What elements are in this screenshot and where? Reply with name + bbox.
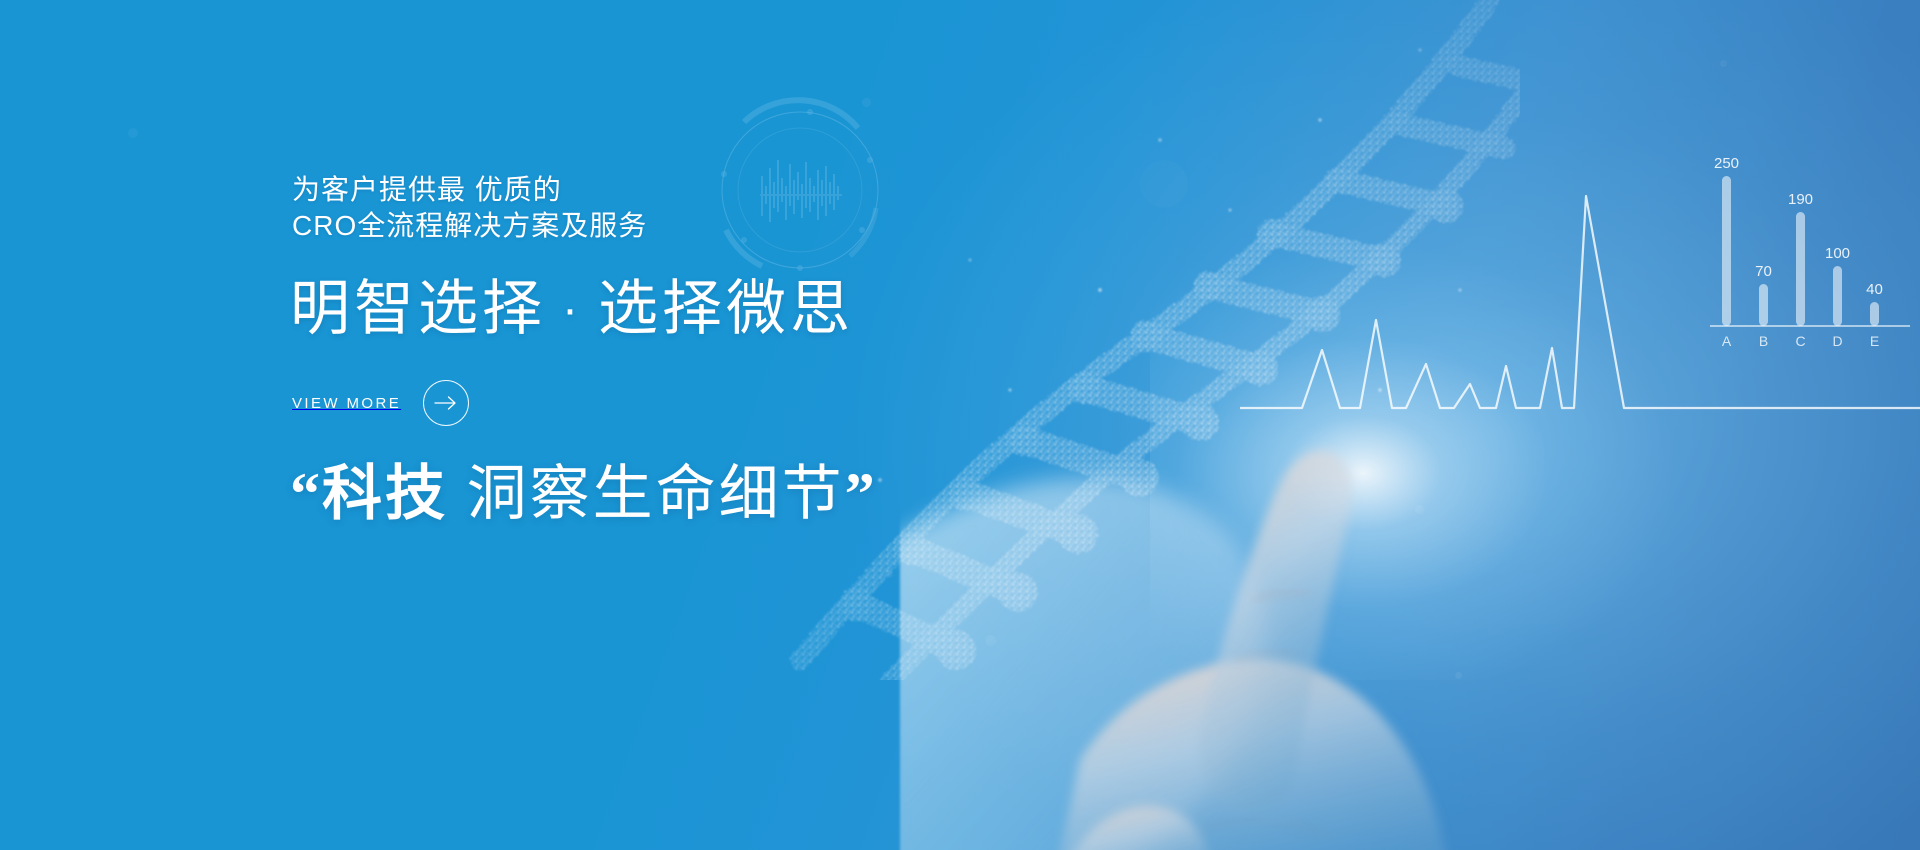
bar-category-label: B	[1759, 333, 1768, 349]
banner-copy: 为客户提供最 优质的 CRO全流程解决方案及服务 明智选择·选择微思 VIEW …	[290, 0, 1070, 850]
view-more-button[interactable]: VIEW MORE	[292, 380, 469, 426]
quote-strong: 科技	[322, 460, 448, 527]
bar-category-label: A	[1722, 333, 1732, 349]
headline-right: 选择微思	[598, 275, 854, 342]
bar-chart: 250A70B190C100D40E	[1700, 140, 1920, 370]
arrow-right-icon[interactable]	[423, 380, 469, 426]
bokeh-dot	[1120, 690, 1180, 750]
bar-value-label: 40	[1866, 281, 1883, 298]
headline-left: 明智选择	[290, 275, 546, 342]
bokeh-dot	[128, 128, 138, 138]
bokeh-dot	[1455, 672, 1462, 679]
quote-open-mark: “	[290, 461, 322, 527]
bokeh-dot	[1415, 505, 1424, 514]
subtitle-line-1: 为客户提供最 优质的	[292, 172, 562, 208]
view-more-label: VIEW MORE	[292, 395, 401, 412]
page-title: 明智选择·选择微思	[290, 272, 854, 347]
bar-category-label: C	[1795, 333, 1805, 349]
glow-highlight	[1150, 220, 1710, 680]
subtitle-line-2: CRO全流程解决方案及服务	[292, 208, 647, 244]
bar-category-label: D	[1832, 333, 1842, 349]
bar-category-label: E	[1870, 333, 1879, 349]
hero-banner: 250A70B190C100D40E 为客户提供最 优质的 CRO全流程解决方案…	[0, 0, 1920, 850]
headline-separator: ·	[546, 283, 598, 336]
bar-value-label: 190	[1788, 191, 1813, 208]
bar-value-label: 100	[1825, 245, 1850, 262]
bar-value-label: 250	[1714, 155, 1739, 172]
quote-light: 洞察生命细节	[467, 460, 845, 527]
quote-close-mark: ”	[845, 461, 877, 527]
bokeh-dot	[1140, 160, 1188, 208]
banner-quote: “科技 洞察生命细节”	[290, 455, 877, 533]
bokeh-dot	[1720, 60, 1727, 67]
bar-value-label: 70	[1755, 263, 1772, 280]
ekg-heartbeat-icon	[1240, 160, 1920, 420]
